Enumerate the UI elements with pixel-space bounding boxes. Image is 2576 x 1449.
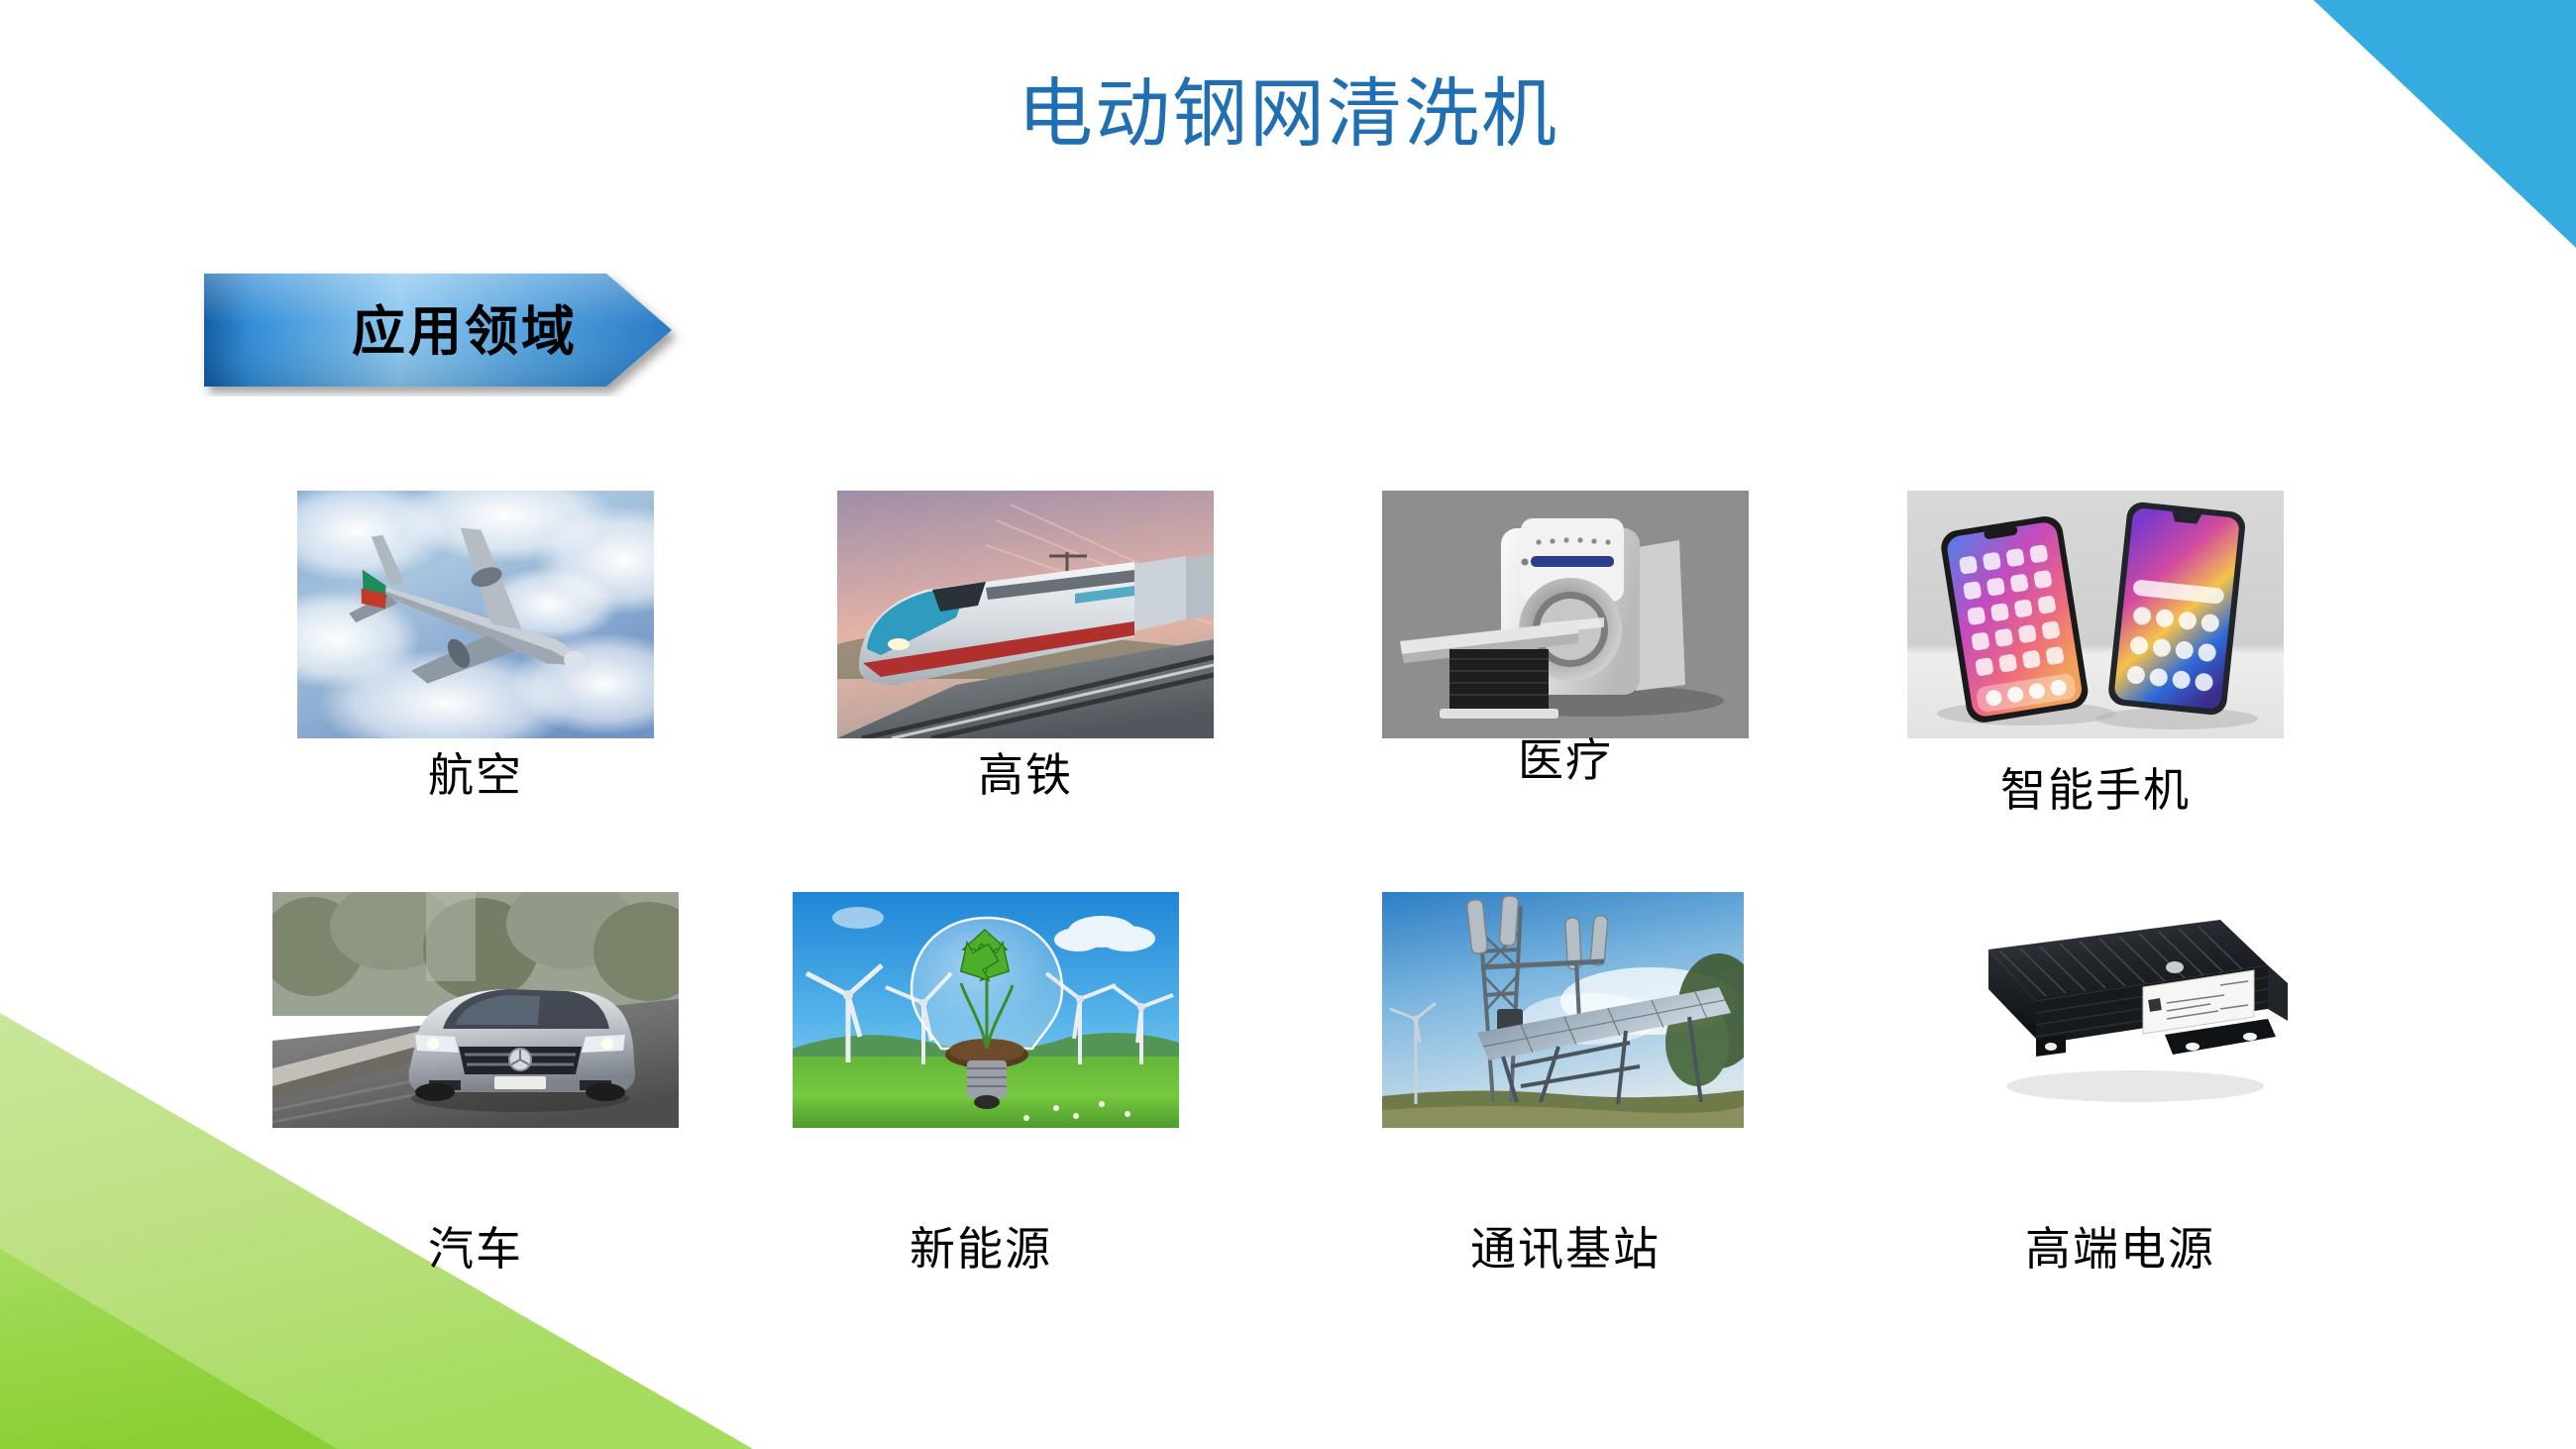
application-card-power-supply[interactable]: 高端电源	[1927, 892, 2313, 1189]
two-smartphones-photo	[1907, 491, 2284, 738]
slide-canvas: 电动钢网清洗机	[0, 0, 2576, 1449]
application-card-high-speed-rail[interactable]: 高铁	[837, 491, 1214, 788]
application-card-aviation[interactable]: 航空	[297, 491, 654, 788]
black-power-supply-module-photo	[1927, 892, 2313, 1128]
application-label: 高铁	[817, 753, 1234, 799]
telecom-tower-solar-panel-photo	[1382, 892, 1744, 1128]
application-label-telecom: 通讯基站	[1377, 1227, 1754, 1273]
application-label: 智能手机	[1882, 768, 2308, 814]
application-card-medical[interactable]: 医疗	[1382, 491, 1749, 788]
application-card-smartphone[interactable]: 智能手机	[1907, 491, 2284, 788]
application-label-new-energy: 新能源	[783, 1227, 1179, 1273]
ct-scanner-photo	[1382, 491, 1749, 738]
lightbulb-recycle-wind-turbines-photo	[793, 892, 1179, 1128]
application-card-telecom-base-station[interactable]: 通讯基站	[1382, 892, 1744, 1189]
application-card-automotive[interactable]: 汽车	[272, 892, 679, 1189]
application-card-new-energy[interactable]: 新能源	[793, 892, 1179, 1189]
application-label: 医疗	[1357, 738, 1773, 784]
silver-car-on-road-photo	[272, 892, 679, 1128]
application-label-automotive: 汽车	[272, 1227, 679, 1273]
application-label-power-supply: 高端电源	[1922, 1227, 2318, 1273]
application-label: 航空	[268, 753, 684, 799]
high-speed-train-photo	[837, 491, 1214, 738]
application-grid: 航空	[0, 0, 2576, 1449]
airplane-in-clouds-photo	[297, 491, 654, 738]
